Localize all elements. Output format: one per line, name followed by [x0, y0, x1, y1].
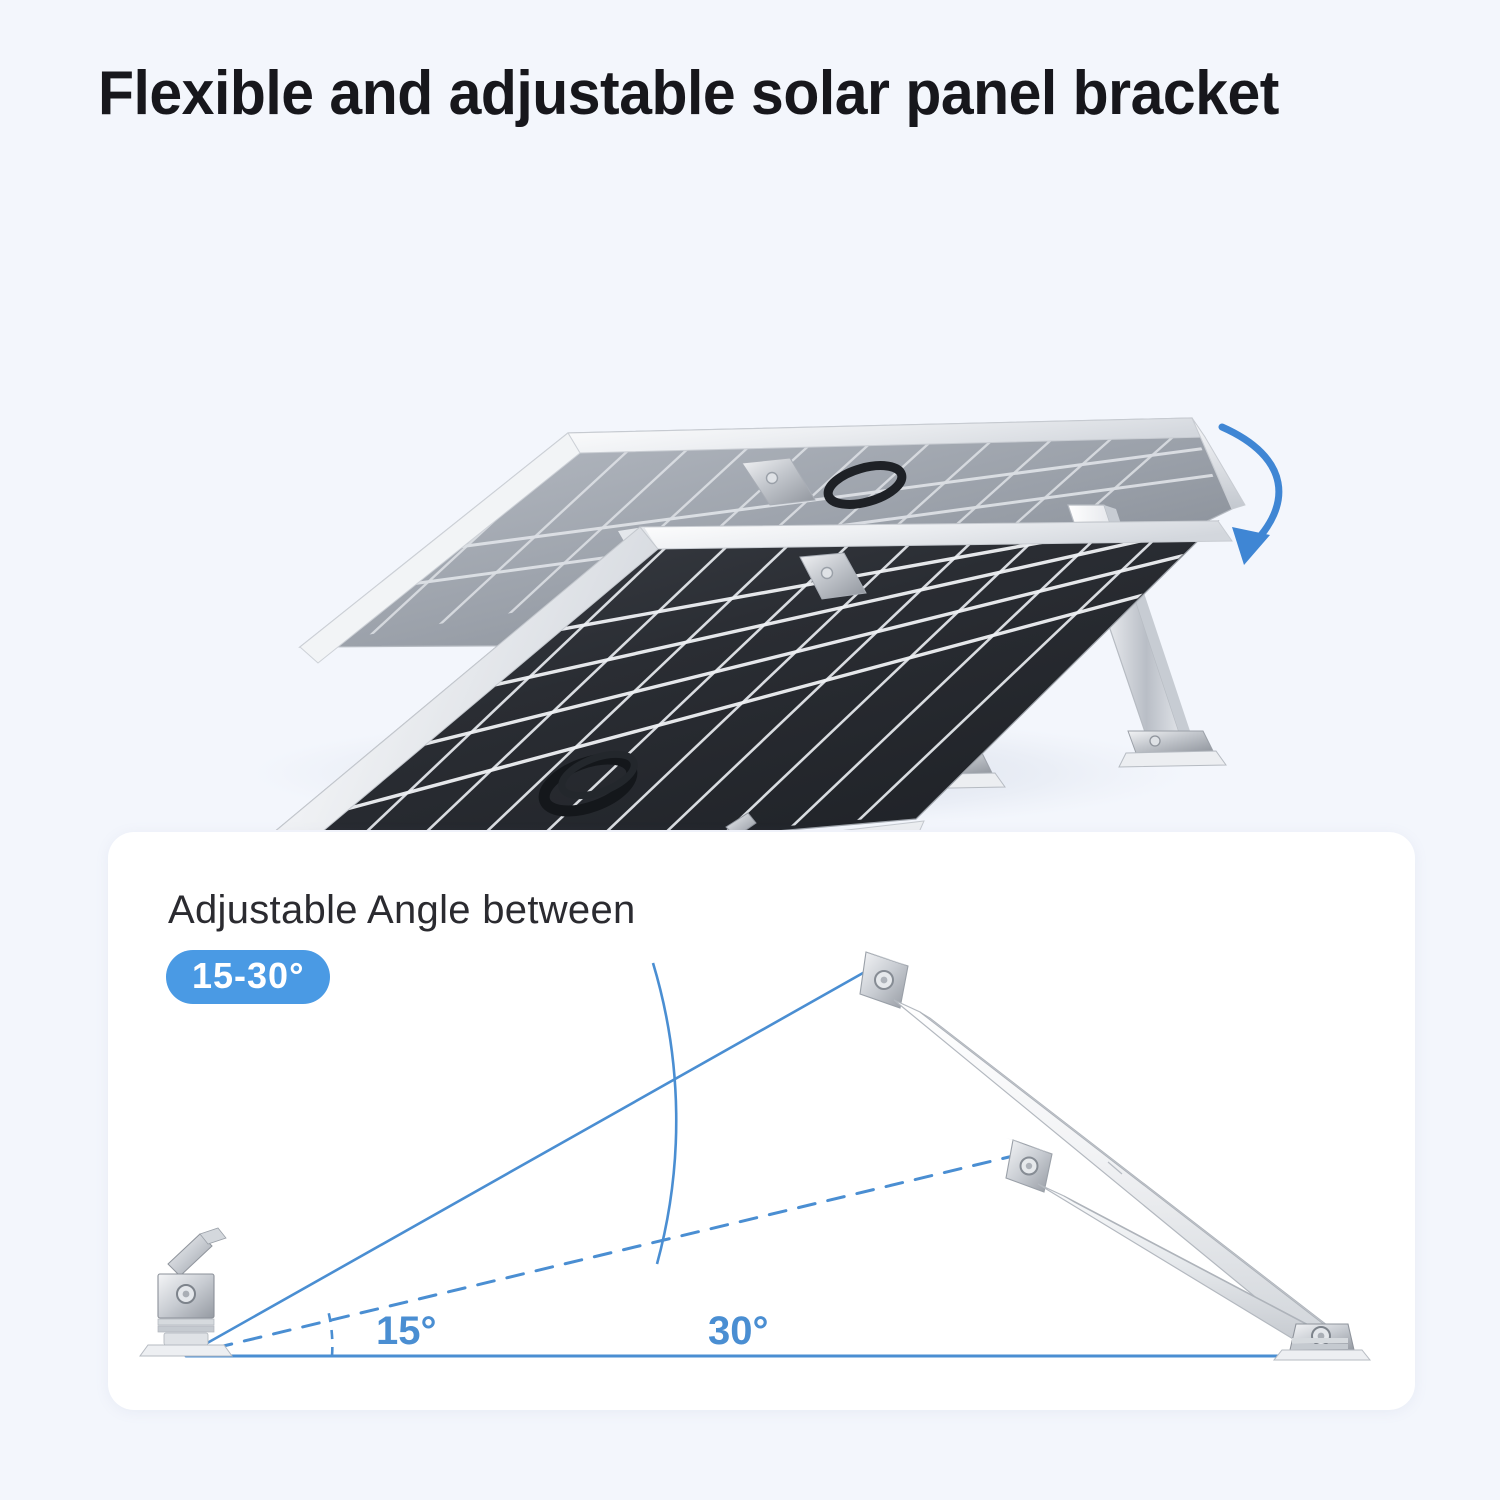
leg-foot-right — [1119, 731, 1226, 767]
front-brace-bolt — [822, 568, 833, 579]
angle-label-30: 30° — [708, 1309, 769, 1353]
angle-arc-30 — [653, 963, 676, 1264]
angle-diagram-svg: 15° 30° — [108, 832, 1415, 1410]
angle-label-15: 15° — [376, 1309, 437, 1353]
solar-panel-illustration — [0, 175, 1500, 830]
angle-line-30 — [186, 960, 886, 1355]
angle-diagram: 15° 30° — [108, 832, 1415, 1410]
support-arm-30 — [860, 950, 1340, 1337]
angle-line-15 — [186, 1150, 1038, 1355]
adjustable-angle-card: Adjustable Angle between 15-30° — [108, 832, 1415, 1410]
hero-product-image — [0, 175, 1500, 830]
rear-brace-bolt — [767, 473, 778, 484]
support-arm-15 — [1006, 1138, 1332, 1342]
angle-arc-15 — [328, 1310, 332, 1356]
page-title: Flexible and adjustable solar panel brac… — [98, 58, 1279, 129]
